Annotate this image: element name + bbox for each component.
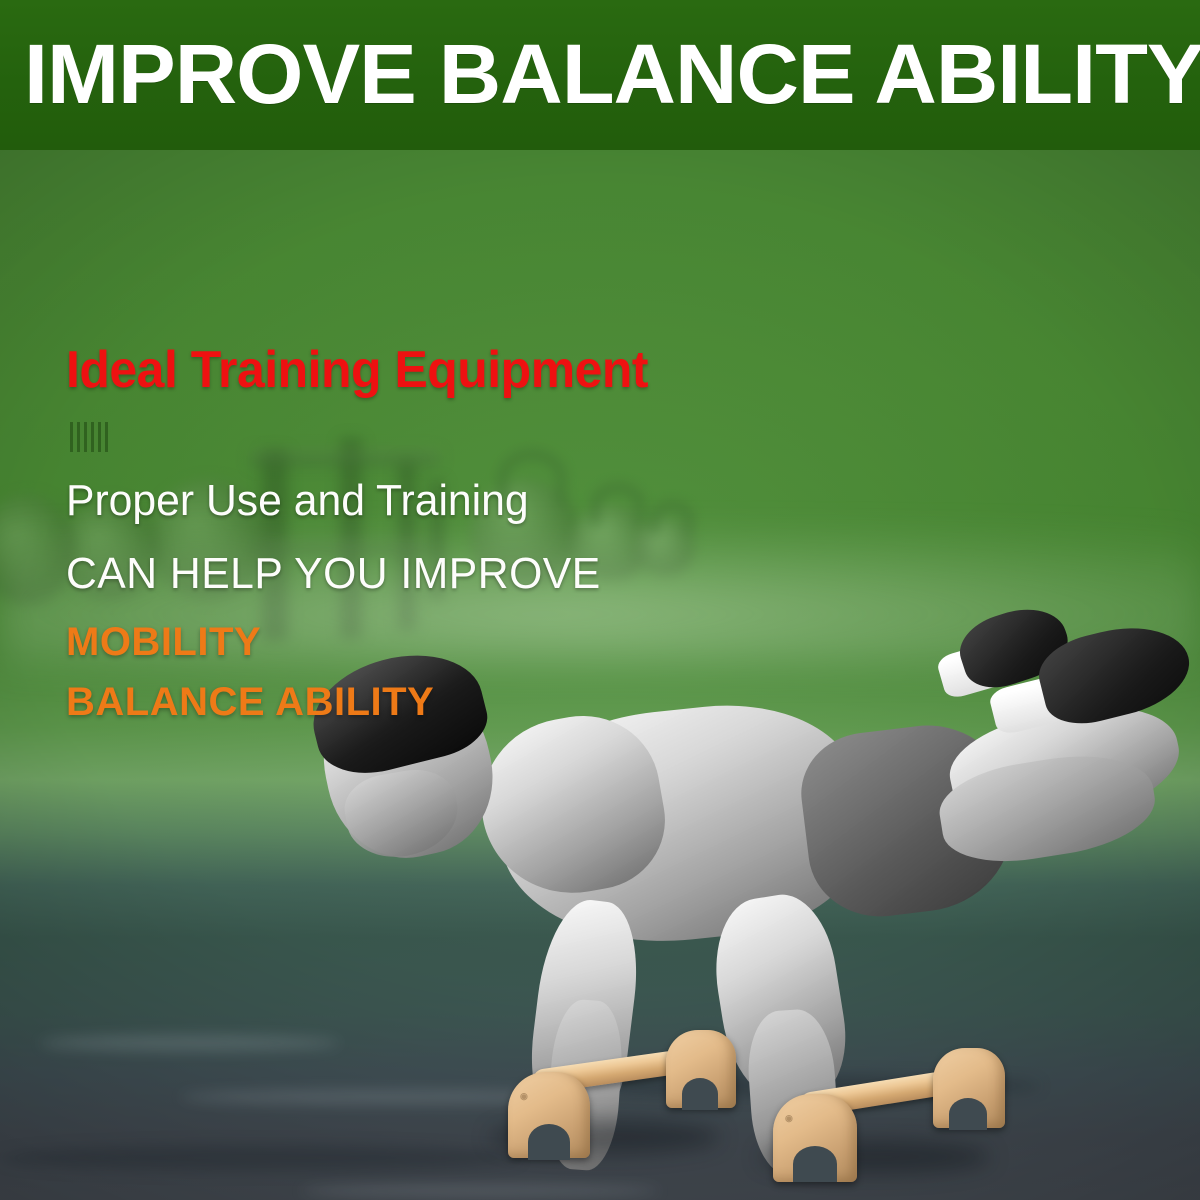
- benefit-line-2: CAN HELP YOU IMPROVE: [66, 550, 601, 598]
- pushup-bar-left: ◉: [490, 1020, 740, 1160]
- tick-divider-icon: [70, 422, 114, 452]
- bar-leg-arch: [793, 1146, 837, 1182]
- copy-block: Ideal Training Equipment Proper Use and …: [0, 150, 1200, 620]
- page-title: IMPROVE BALANCE ABILITY: [24, 32, 1200, 116]
- kicker-headline: Ideal Training Equipment: [66, 342, 648, 398]
- header-band: IMPROVE BALANCE ABILITY: [0, 0, 1200, 150]
- benefit-line-1: Proper Use and Training: [66, 477, 529, 525]
- bar-leg-arch: [949, 1098, 987, 1130]
- bar-leg-arch: [682, 1078, 718, 1110]
- benefit-line-4: BALANCE ABILITY: [66, 680, 434, 724]
- product-poster: ◉ ◉ Ideal Training Equipment Proper Use …: [0, 0, 1200, 1200]
- benefit-line-3: MOBILITY: [66, 620, 261, 664]
- brand-logo-icon: ◉: [520, 1092, 528, 1101]
- brand-logo-icon: ◉: [785, 1114, 793, 1123]
- bar-leg-arch: [528, 1124, 570, 1160]
- pushup-bar-right: ◉: [755, 1040, 1005, 1180]
